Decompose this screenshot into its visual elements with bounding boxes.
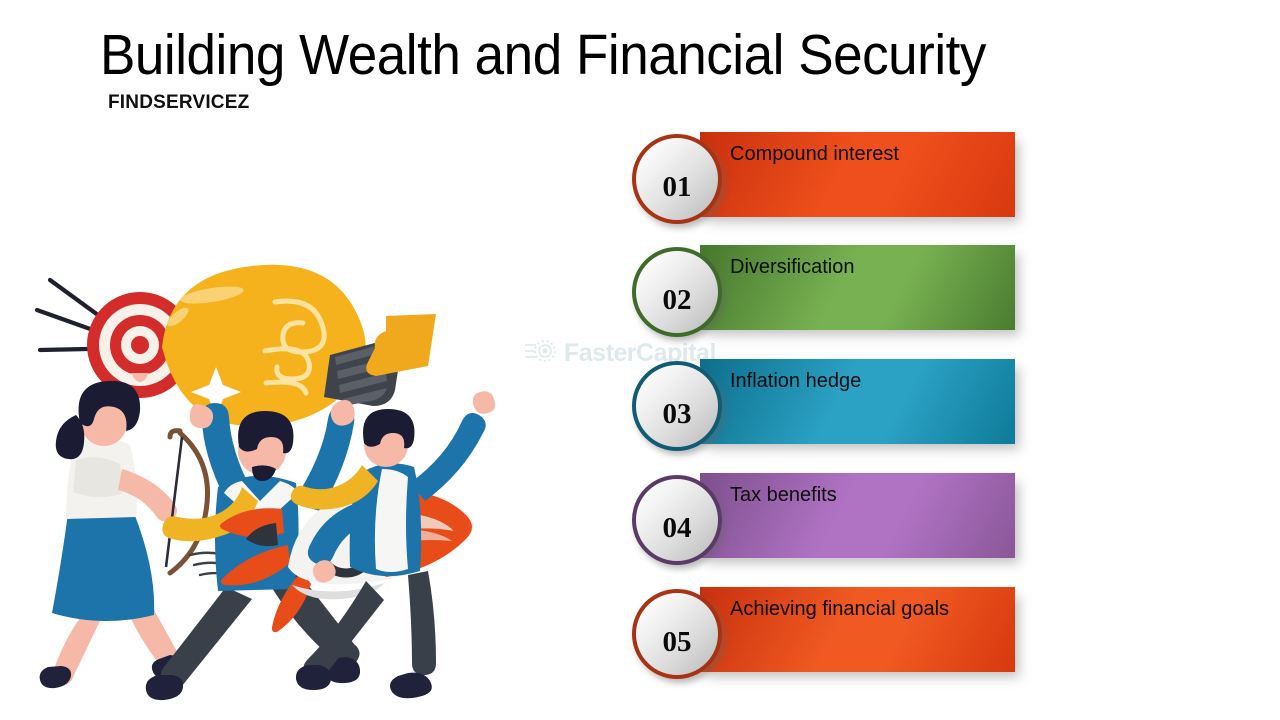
step-row[interactable]: Tax benefits 04 — [630, 469, 1025, 561]
step-row[interactable]: Compound interest 01 — [630, 128, 1025, 220]
step-row[interactable]: Achieving financial goals 05 — [630, 583, 1025, 675]
step-badge[interactable]: 04 — [632, 475, 722, 565]
step-label: Inflation hedge — [730, 367, 965, 395]
megaphone-icon — [366, 314, 436, 376]
step-label: Compound interest — [730, 140, 965, 168]
page-title: Building Wealth and Financial Security — [100, 24, 986, 87]
step-row[interactable]: Diversification 02 — [630, 241, 1025, 333]
step-label: Tax benefits — [730, 481, 965, 509]
step-row[interactable]: Inflation hedge 03 — [630, 355, 1025, 447]
brand-label: FINDSERVICEZ — [108, 92, 249, 114]
step-label: Diversification — [730, 253, 965, 281]
step-number: 02 — [663, 284, 692, 317]
step-badge[interactable]: 01 — [632, 134, 722, 224]
step-badge[interactable]: 05 — [632, 589, 722, 679]
step-number: 01 — [663, 171, 692, 204]
step-number: 05 — [663, 626, 692, 659]
step-badge[interactable]: 02 — [632, 247, 722, 337]
step-badge[interactable]: 03 — [632, 361, 722, 451]
step-number: 03 — [663, 398, 692, 431]
step-label: Achieving financial goals — [730, 595, 965, 623]
step-number: 04 — [663, 512, 692, 545]
steps-list: Compound interest 01 Diversification 02 … — [630, 128, 1060, 673]
illustration — [30, 255, 550, 705]
lightbulb-icon — [162, 265, 399, 426]
